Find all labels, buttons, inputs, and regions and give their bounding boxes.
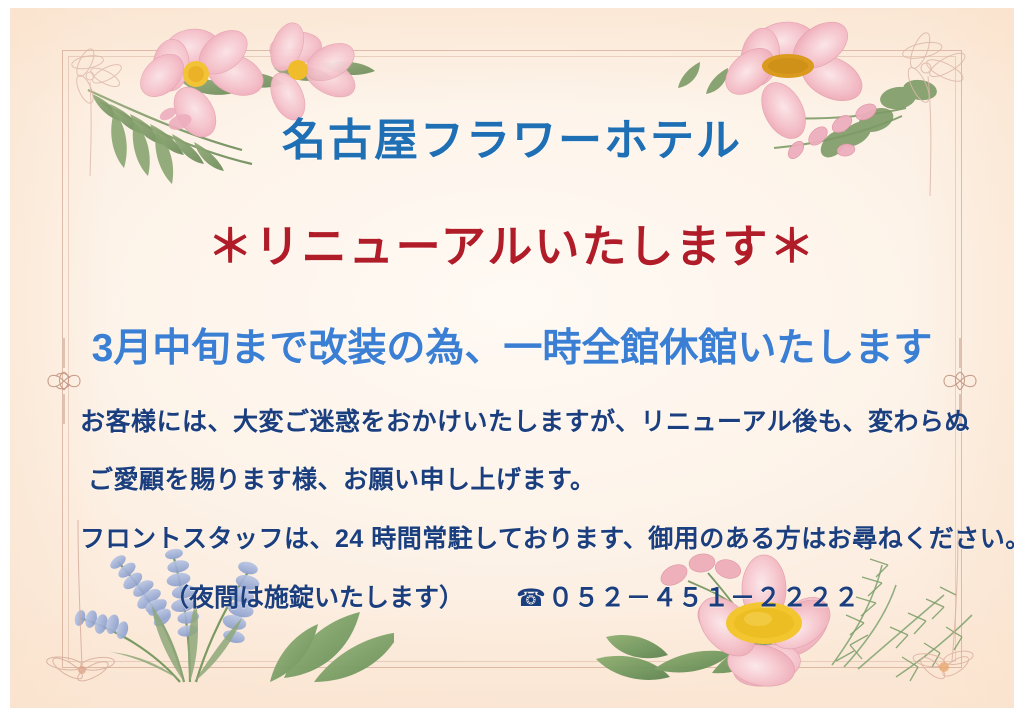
renewal-subtitle: ＊リニューアルいたします＊ xyxy=(80,210,944,275)
apology-line-2: ご愛顧を賜ります様、お願い申し上げます。 xyxy=(80,467,944,493)
phone-number: ０５２－４５１－２２２２ xyxy=(548,584,860,612)
phone-block: ☎０５２－４５１－２２２２ xyxy=(516,578,860,614)
border-flourish-left-icon xyxy=(44,338,84,424)
hotel-name-title: 名古屋フラワーホテル xyxy=(80,104,944,168)
notice-poster: 名古屋フラワーホテル ＊リニューアルいたします＊ 3月中旬まで改装の為、一時全館… xyxy=(10,8,1014,708)
front-staff-line: フロントスタッフは、24 時間常駐しております、御用のある方はお尋ねください。 xyxy=(80,526,944,552)
contact-row: （夜間は施錠いたします） ☎０５２－４５１－２２２２ xyxy=(80,578,944,614)
notice-text-block: 名古屋フラワーホテル ＊リニューアルいたします＊ 3月中旬まで改装の為、一時全館… xyxy=(80,104,944,614)
apology-line-1: お客様には、大変ご迷惑をおかけいたしますが、リニューアル後も、変わらぬ xyxy=(80,409,944,435)
closure-headline: 3月中旬まで改装の為、一時全館休館いたします xyxy=(80,317,944,373)
night-lock-note: （夜間は施錠いたします） xyxy=(164,578,464,614)
telephone-icon: ☎ xyxy=(516,585,546,612)
